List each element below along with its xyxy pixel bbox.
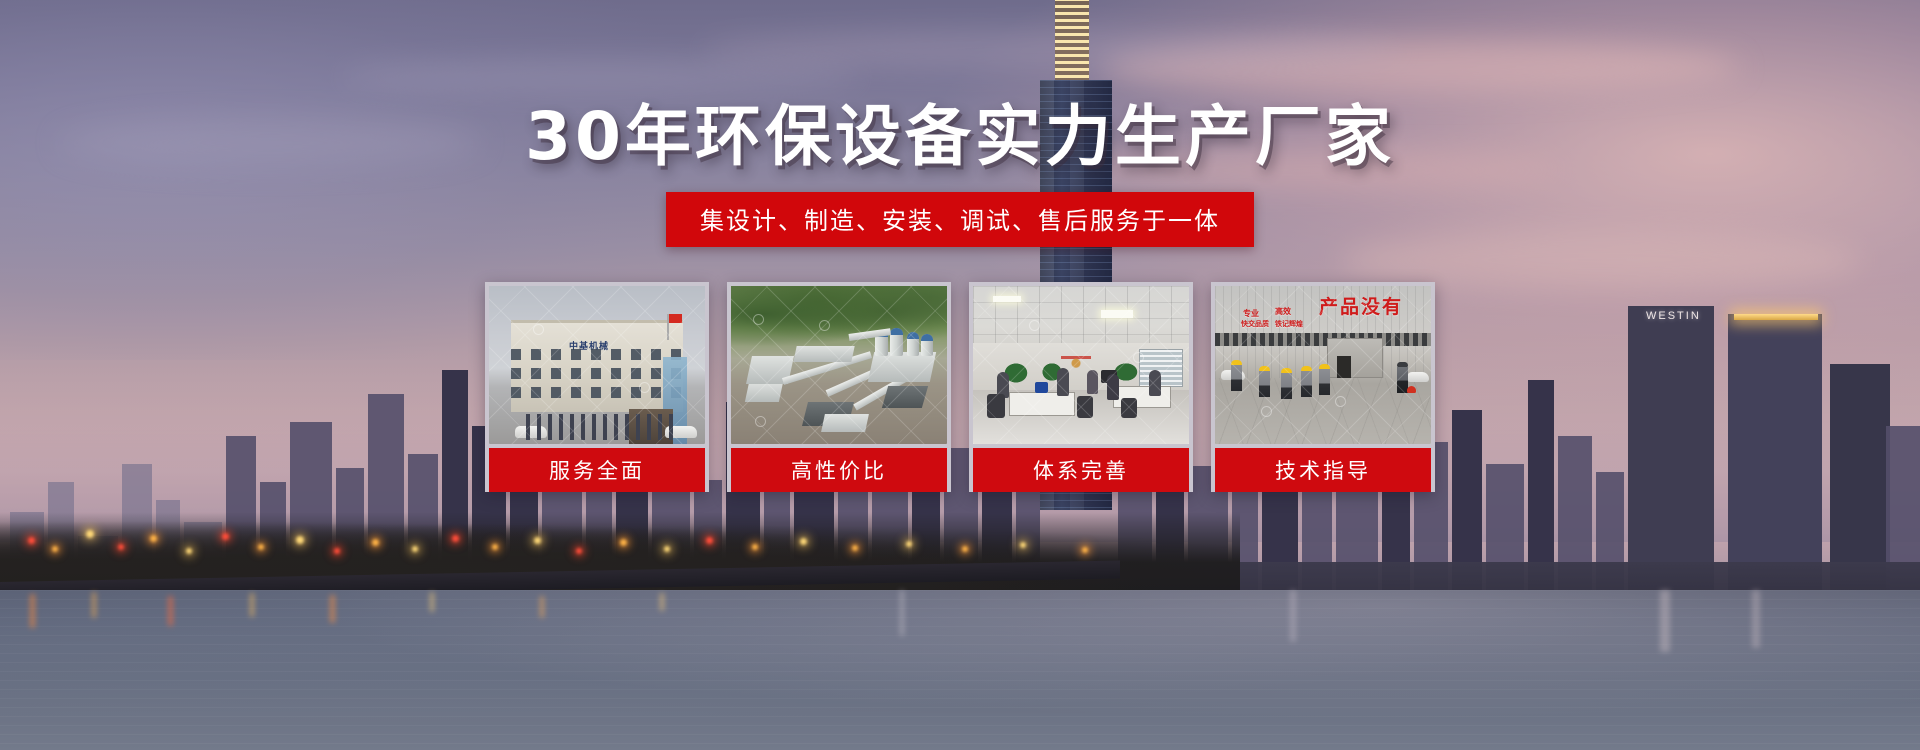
- worker-figure: [1319, 364, 1330, 395]
- factory-workers-photo: 产品没有 专业 高效 快交品质 铁记辉煌: [1215, 286, 1431, 444]
- feature-card[interactable]: 高性价比: [727, 282, 951, 492]
- factory-slogan-small: 铁记辉煌: [1275, 319, 1303, 329]
- subtitle-text: 集设计、制造、安装、调试、售后服务于一体: [700, 201, 1220, 236]
- feature-card-caption: 高性价比: [731, 448, 947, 492]
- factory-main-slogan: 产品没有: [1319, 292, 1403, 319]
- feature-card-caption: 服务全面: [489, 448, 705, 492]
- worker-figure: [1281, 368, 1292, 399]
- company-headquarters-photo: 中基机械: [489, 286, 705, 444]
- subtitle-banner: 集设计、制造、安装、调试、售后服务于一体: [666, 192, 1254, 247]
- westin-sign-text: WESTIN: [1646, 310, 1701, 322]
- river-water: [0, 590, 1920, 750]
- hotel-rooftop-sign-glow: [1734, 314, 1818, 320]
- feature-card[interactable]: 体系完善: [969, 282, 1193, 492]
- feature-card[interactable]: 中基机械 服务全面: [485, 282, 709, 492]
- red-helmet: [1407, 386, 1416, 393]
- production-plant-aerial-photo: [731, 286, 947, 444]
- factory-slogan-small: 高效: [1275, 306, 1291, 317]
- feature-card[interactable]: 产品没有 专业 高效 快交品质 铁记辉煌: [1211, 282, 1435, 492]
- office-team-photo: [973, 286, 1189, 444]
- feature-card-caption: 技术指导: [1215, 448, 1431, 492]
- feature-card-caption: 体系完善: [973, 448, 1189, 492]
- hero-banner: WESTIN: [0, 0, 1920, 750]
- factory-slogan-small: 快交品质: [1241, 319, 1269, 329]
- cloud: [340, 60, 860, 94]
- page-title: 30年环保设备实力生产厂家: [0, 104, 1920, 170]
- cloud: [700, 30, 1400, 70]
- feature-card-list: 中基机械 服务全面: [485, 282, 1435, 492]
- worker-figure: [1301, 366, 1312, 397]
- tower-crown-lights: [1055, 0, 1089, 90]
- worker-figure: [1259, 366, 1270, 397]
- factory-slogan-small: 专业: [1243, 308, 1259, 319]
- worker-figure: [1231, 360, 1242, 391]
